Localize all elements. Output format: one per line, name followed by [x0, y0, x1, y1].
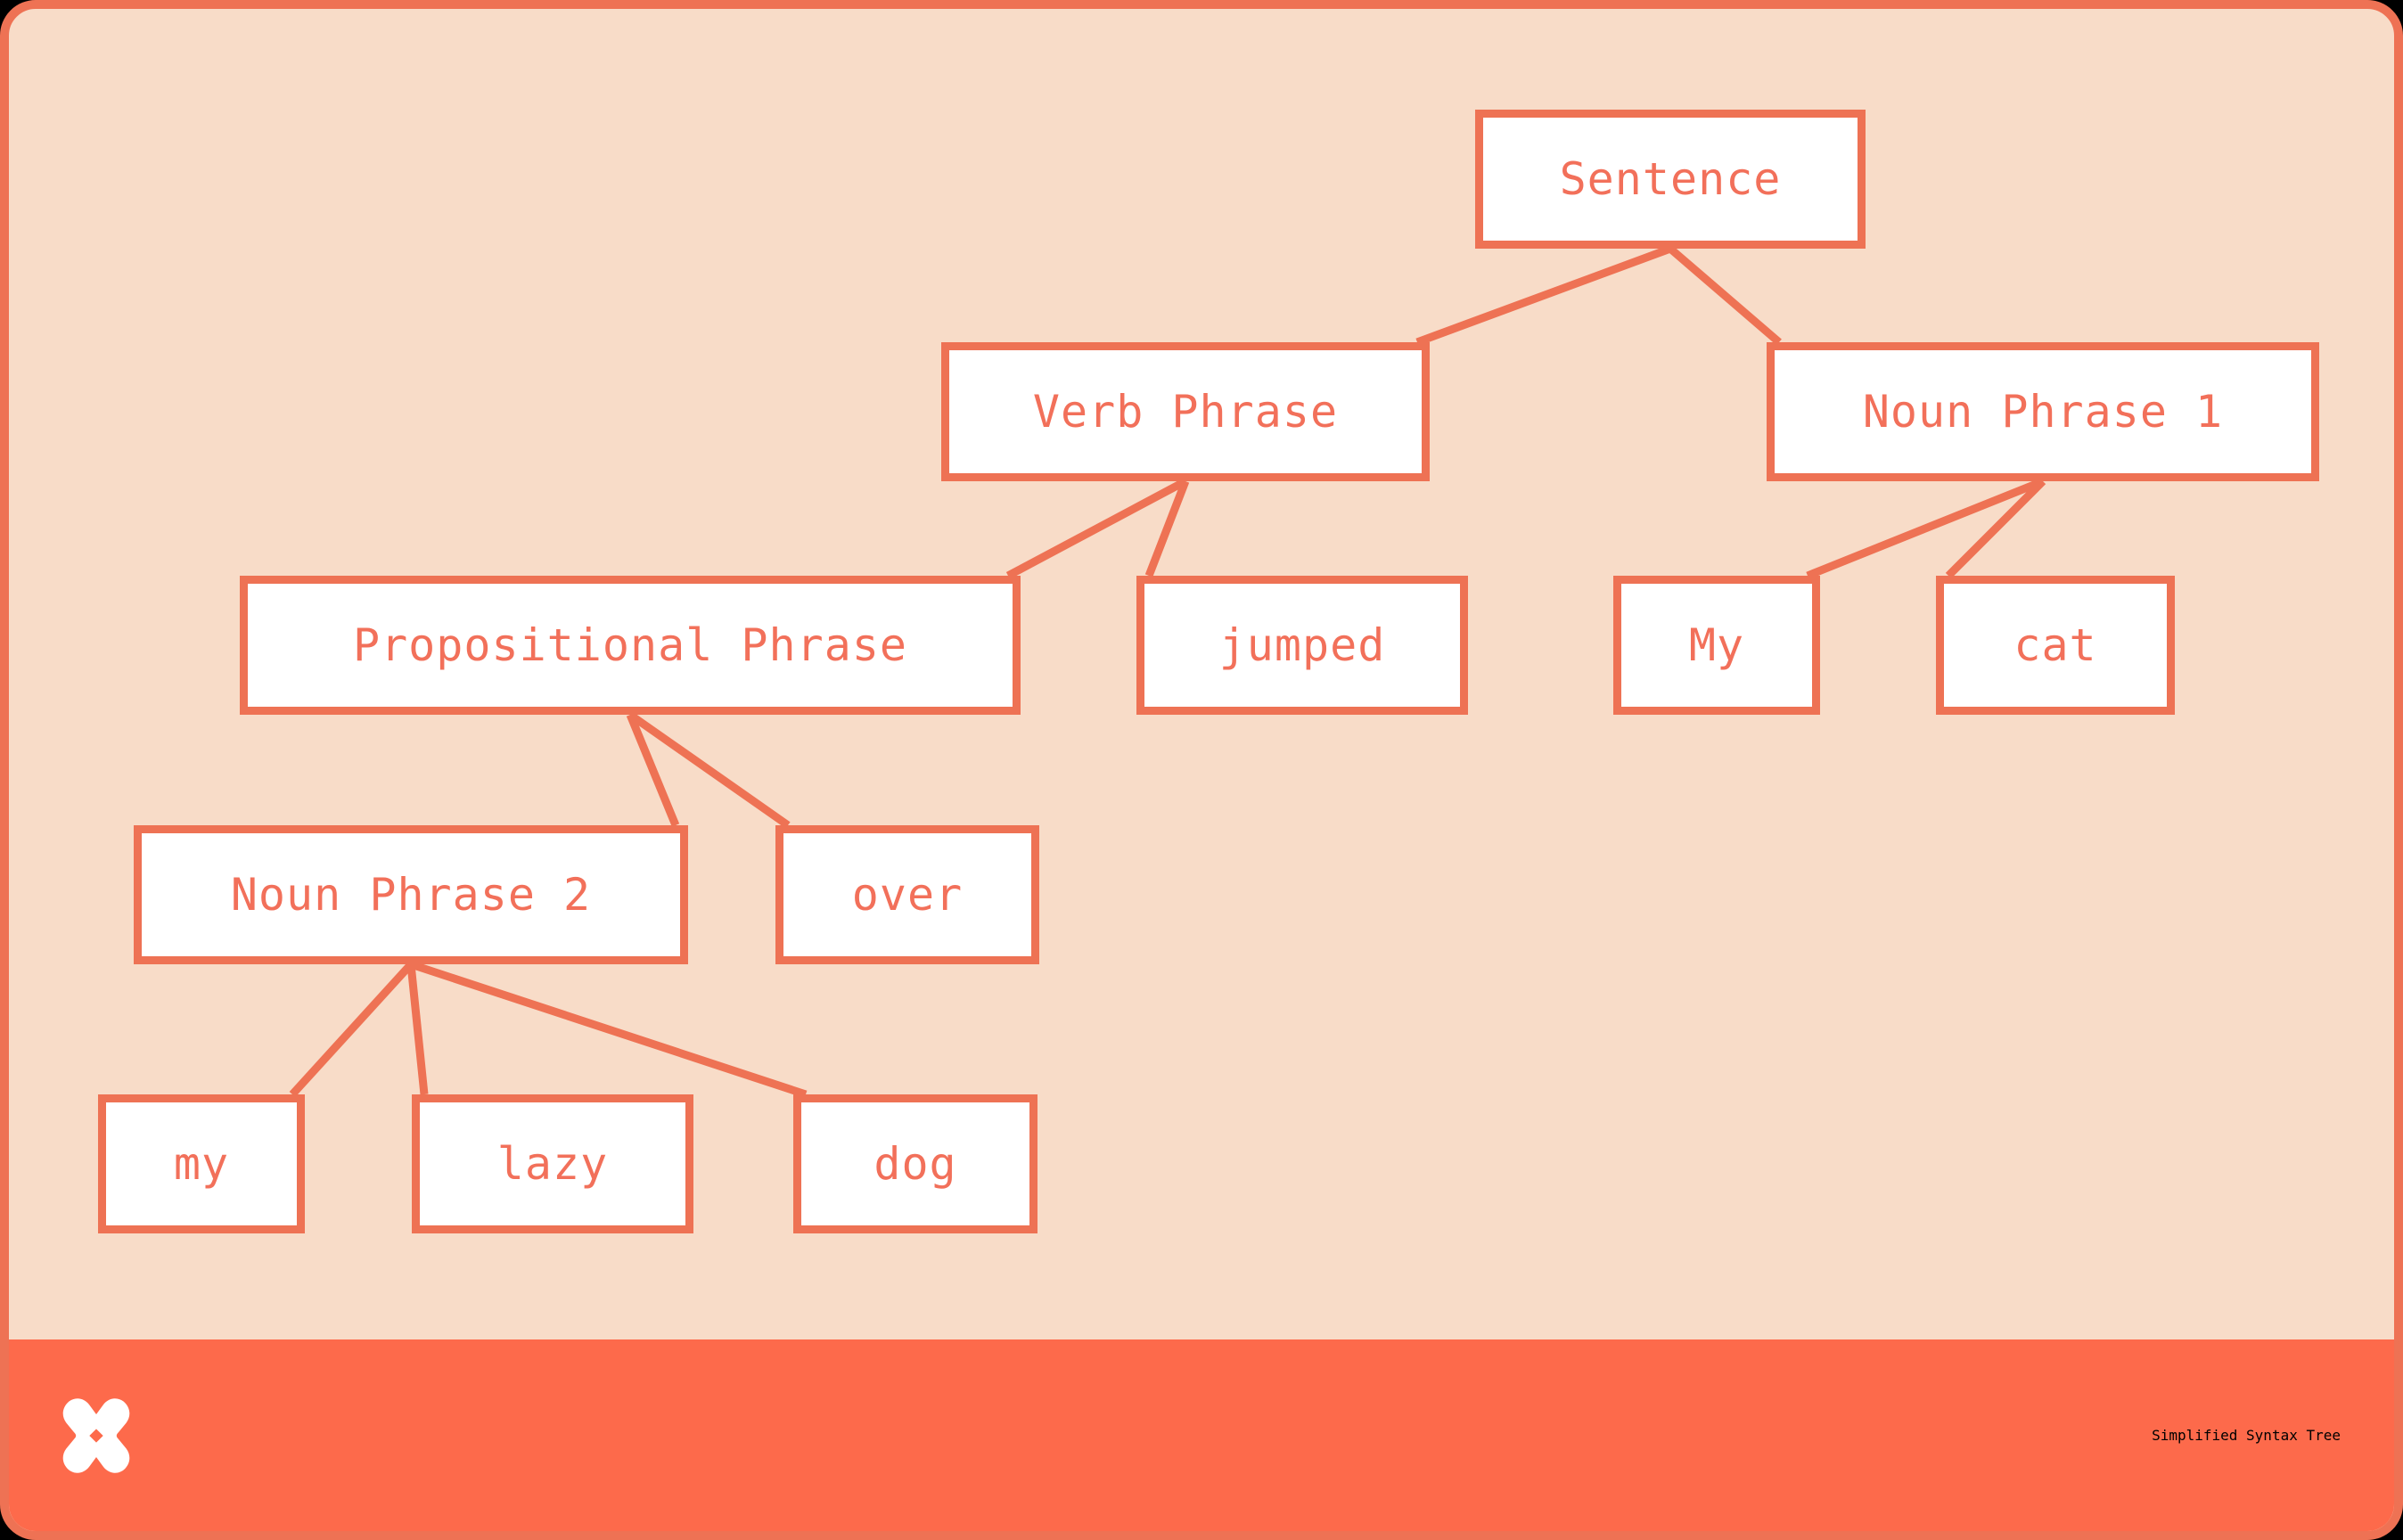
- tree-edge: [1417, 249, 1670, 342]
- tree-node-lazy[interactable]: lazy: [412, 1094, 693, 1233]
- tree-node-label: lazy: [497, 1142, 608, 1186]
- tree-node-dog[interactable]: dog: [793, 1094, 1037, 1233]
- footer-title: Simplified Syntax Tree: [2152, 1427, 2341, 1444]
- tree-node-prop-phrase[interactable]: Propositional Phrase: [240, 576, 1021, 715]
- tree-edge: [292, 964, 411, 1094]
- tree-edge: [1808, 481, 2043, 576]
- syntax-tree: SentenceVerb PhraseNoun Phrase 1Proposit…: [9, 9, 2403, 1366]
- tree-node-label: My: [1689, 623, 1744, 668]
- tree-node-label: Verb Phrase: [1033, 389, 1338, 434]
- tree-node-label: Propositional Phrase: [353, 623, 907, 668]
- tree-node-noun-phrase-1[interactable]: Noun Phrase 1: [1767, 342, 2319, 481]
- tree-node-label: cat: [2013, 623, 2096, 668]
- tree-node-label: jumped: [1219, 623, 1386, 668]
- tree-node-label: my: [174, 1142, 229, 1186]
- tree-node-label: Noun Phrase 2: [231, 872, 591, 917]
- tree-node-label: over: [852, 872, 963, 917]
- tree-node-label: dog: [873, 1142, 956, 1186]
- tree-node-my-lower[interactable]: my: [98, 1094, 305, 1233]
- tree-node-over[interactable]: over: [775, 825, 1039, 964]
- tree-node-cat[interactable]: cat: [1936, 576, 2175, 715]
- tree-node-jumped[interactable]: jumped: [1136, 576, 1468, 715]
- tree-node-verb-phrase[interactable]: Verb Phrase: [941, 342, 1430, 481]
- tree-node-my-det[interactable]: My: [1613, 576, 1820, 715]
- tree-node-noun-phrase-2[interactable]: Noun Phrase 2: [134, 825, 688, 964]
- diagram-card: SentenceVerb PhraseNoun Phrase 1Proposit…: [0, 0, 2403, 1540]
- tree-edge: [411, 964, 424, 1094]
- tree-edge: [1948, 481, 2043, 576]
- tree-edge: [1670, 249, 1779, 342]
- tree-node-label: Noun Phrase 1: [1863, 389, 2223, 434]
- x-star-logo-icon: [53, 1393, 139, 1479]
- diagram-canvas: SentenceVerb PhraseNoun Phrase 1Proposit…: [0, 0, 2403, 1540]
- tree-edge: [1008, 481, 1185, 576]
- footer-bar: Simplified Syntax Tree: [9, 1339, 2394, 1531]
- tree-edge: [411, 964, 806, 1094]
- tree-node-label: Sentence: [1560, 157, 1782, 201]
- tree-node-sentence[interactable]: Sentence: [1475, 110, 1866, 249]
